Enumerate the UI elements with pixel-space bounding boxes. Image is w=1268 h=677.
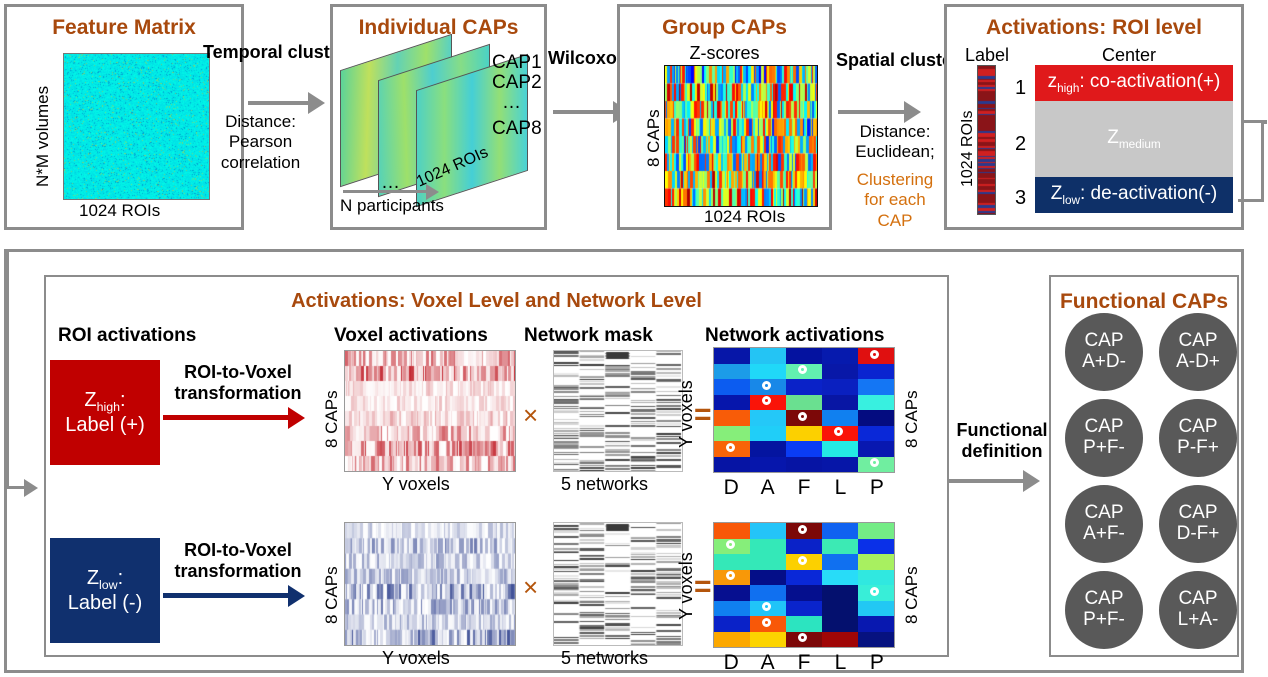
functional-caps-list: CAPA+D-CAPA-D+CAPP+F-CAPP-F+CAPA+F-CAPD-…: [1049, 313, 1239, 653]
arrow-line-wilcoxon: [553, 110, 615, 114]
network-cell: [786, 348, 822, 364]
network-column-label: A: [749, 651, 785, 675]
network-cell: [858, 364, 894, 380]
network-cell: [714, 410, 750, 426]
network-cell: [714, 379, 750, 395]
text-line: for each: [836, 190, 954, 210]
z-label: zhigh: co-activation(+): [1048, 71, 1221, 95]
functional-cap-circle[interactable]: CAPA+F-: [1065, 485, 1143, 563]
zlow-label-box: Zlow:Label (-): [50, 538, 160, 643]
network-cell: [750, 395, 786, 411]
network-activations-positive-grid: [713, 347, 895, 473]
network-cell: [858, 539, 894, 555]
cap-line-1: CAP: [1084, 331, 1123, 352]
network-cell: [822, 616, 858, 632]
roi-label-colorbar: [977, 65, 996, 215]
roi-center-row-medium: Zmedium: [1035, 101, 1233, 177]
network-cell: [750, 457, 786, 473]
network-cell: [750, 554, 786, 570]
network-mask-negative-xlabel: 5 networks: [561, 648, 648, 669]
z-label: Zhigh:: [84, 389, 125, 414]
text-line: ROI-to-Voxel: [163, 540, 313, 561]
network-cell: [858, 616, 894, 632]
network-cell: [786, 554, 822, 570]
network-cell: [750, 410, 786, 426]
cap-line-2: P+F-: [1083, 610, 1125, 631]
functional-cap-circle[interactable]: CAPA+D-: [1065, 313, 1143, 391]
arrow-line-spatial: [838, 110, 906, 114]
network-cell: [750, 616, 786, 632]
feature-matrix-heatmap: [63, 53, 210, 200]
network-cell: [822, 426, 858, 442]
voxel-positive-ylabel: 8 CAPs: [322, 390, 342, 448]
roi-center-row-low: Zlow: de-activation(-): [1035, 177, 1233, 213]
network-positive-ylabel: 8 CAPs: [902, 390, 922, 448]
voxel-activations-negative-heatmap: [344, 522, 516, 646]
z-label: Zlow:: [87, 567, 123, 592]
feature-matrix-ylabel: N*M volumes: [33, 86, 53, 187]
panel-title-voxel-network: Activations: Voxel Level and Network Lev…: [46, 290, 947, 313]
cap-line-1: CAP: [1178, 331, 1217, 352]
group-caps-ylabel: 8 CAPs: [644, 109, 664, 167]
feature-matrix-xlabel: 1024 ROIs: [79, 201, 160, 221]
text-line: Clustering: [836, 170, 954, 190]
flow-connector-left-arrowhead: [24, 479, 38, 497]
network-cell: [714, 426, 750, 442]
cap-label-ellipsis: …: [502, 92, 521, 114]
network-cell: [822, 348, 858, 364]
arrow-line-participants: [343, 190, 428, 193]
activation-marker: [798, 412, 807, 421]
activation-marker: [762, 381, 771, 390]
network-cell: [714, 364, 750, 380]
network-cell: [786, 426, 822, 442]
equals-symbol-negative: =: [694, 570, 712, 604]
roi-center-header: Center: [1102, 45, 1156, 66]
network-cell: [822, 554, 858, 570]
network-cell: [858, 441, 894, 457]
network-cell: [822, 379, 858, 395]
functional-definition-label: Functionaldefinition: [948, 420, 1056, 461]
network-mask-canvas: [554, 523, 682, 645]
activation-marker: [726, 443, 735, 452]
network-cell: [750, 426, 786, 442]
network-cell: [714, 601, 750, 617]
cap-label-2: CAP2: [492, 72, 542, 94]
cap-label-8: CAP8: [492, 118, 542, 140]
network-cell: [858, 632, 894, 648]
cap-line-2: P+F-: [1083, 438, 1125, 459]
roi-to-voxel-label-negative: ROI-to-Voxeltransformation: [163, 540, 313, 581]
network-cell: [714, 585, 750, 601]
network-cell: [786, 379, 822, 395]
arrow-sublabel-spatial-black: Distance:Euclidean;: [836, 122, 954, 163]
arrow-sublabel-spatial-orange: Clusteringfor eachCAP: [836, 170, 954, 231]
network-negative-column-labels: DAFLP: [713, 651, 895, 675]
network-cell: [714, 441, 750, 457]
text-line: Functional: [948, 420, 1056, 441]
text-line: definition: [948, 441, 1056, 462]
network-cell: [822, 364, 858, 380]
voxel-positive-xlabel: Y voxels: [382, 474, 450, 495]
voxel-activations-canvas: [345, 351, 515, 471]
z-sublabel: Label (-): [68, 592, 142, 615]
network-cell: [750, 601, 786, 617]
activation-marker: [870, 350, 879, 359]
network-cell: [714, 395, 750, 411]
cap-line-1: CAP: [1178, 417, 1217, 438]
panel-activations-roi-level: Activations: ROI level Label Center 1024…: [944, 4, 1244, 230]
flow-connector-vertical-right: [1261, 120, 1264, 202]
network-cell: [714, 523, 750, 539]
network-cell: [786, 616, 822, 632]
z-label: Zlow: de-activation(-): [1051, 183, 1218, 207]
panel-title-individual-caps: Individual CAPs: [333, 16, 544, 40]
network-cell: [858, 348, 894, 364]
network-mask-canvas: [554, 351, 682, 471]
activation-marker: [762, 602, 771, 611]
network-cell: [822, 570, 858, 586]
text-line: Pearson: [203, 132, 318, 152]
text-line: Distance:: [836, 122, 954, 142]
network-cell: [786, 523, 822, 539]
group-caps-subtitle: Z-scores: [620, 43, 829, 64]
arrow-head-roi-to-voxel-positive: [288, 407, 305, 429]
functional-cap-circle[interactable]: CAPP-F+: [1159, 399, 1237, 477]
text-line: transformation: [163, 561, 313, 582]
network-cell: [822, 441, 858, 457]
network-cell: [750, 539, 786, 555]
network-column-label: L: [822, 651, 858, 675]
network-cell: [858, 426, 894, 442]
activation-marker: [798, 525, 807, 534]
network-cell: [786, 570, 822, 586]
header-voxel-activations: Voxel activations: [334, 325, 488, 347]
network-cell: [750, 570, 786, 586]
individual-caps-xlabel: N participants: [340, 196, 444, 216]
functional-cap-circle[interactable]: CAPA-D+: [1159, 313, 1237, 391]
network-cell: [858, 379, 894, 395]
arrow-line-roi-to-voxel-positive: [163, 415, 291, 420]
network-positive-column-labels: DAFLP: [713, 476, 895, 500]
network-cell: [714, 539, 750, 555]
network-cell: [750, 585, 786, 601]
network-cell: [858, 410, 894, 426]
arrow-label-temporal-clustering: Temporal clustering: [203, 42, 318, 63]
cap-label-1: CAP1: [492, 52, 542, 74]
text-line: Euclidean;: [836, 142, 954, 162]
network-cell: [750, 348, 786, 364]
activation-marker: [762, 396, 771, 405]
z-sublabel: Label (+): [65, 414, 145, 437]
network-cell: [858, 395, 894, 411]
network-column-label: P: [859, 476, 895, 500]
cap-line-1: CAP: [1178, 503, 1217, 524]
network-cell: [786, 410, 822, 426]
roi-row-index-3: 3: [1015, 187, 1026, 210]
arrow-line-temporal: [248, 101, 310, 105]
arrow-line-functional-definition: [948, 479, 1026, 483]
network-cell: [750, 441, 786, 457]
network-column-label: F: [786, 651, 822, 675]
network-cell: [858, 570, 894, 586]
activation-marker: [726, 571, 735, 580]
network-cell: [786, 601, 822, 617]
network-cell: [714, 348, 750, 364]
network-cell: [786, 441, 822, 457]
network-cell: [750, 364, 786, 380]
network-cell: [714, 554, 750, 570]
activation-marker: [798, 633, 807, 642]
network-column-label: P: [859, 651, 895, 675]
arrow-head-functional-definition: [1023, 470, 1040, 492]
network-cell: [858, 457, 894, 473]
cap-line-2: A-D+: [1176, 352, 1220, 373]
panel-title-functional-caps: Functional CAPs: [1051, 290, 1237, 314]
voxel-negative-ylabel: 8 CAPs: [322, 566, 342, 624]
zhigh-label-box: Zhigh:Label (+): [50, 360, 160, 465]
network-cell: [786, 585, 822, 601]
activation-marker: [870, 458, 879, 467]
panel-group-caps: Group CAPs Z-scores 8 CAPs 1024 ROIs: [617, 4, 832, 230]
header-network-mask: Network mask: [524, 325, 653, 347]
network-cell: [822, 585, 858, 601]
network-cell: [714, 632, 750, 648]
activation-marker: [798, 365, 807, 374]
functional-cap-circle[interactable]: CAPL+A-: [1159, 571, 1237, 649]
cap-line-1: CAP: [1084, 503, 1123, 524]
network-mask-positive-xlabel: 5 networks: [561, 474, 648, 495]
network-cell: [714, 570, 750, 586]
network-mask-negative: [553, 522, 683, 646]
cap-line-1: CAP: [1084, 417, 1123, 438]
roi-axis-label: 1024 ROIs: [959, 111, 977, 187]
text-line: transformation: [163, 383, 313, 404]
network-cell: [822, 410, 858, 426]
cap-line-2: P-F+: [1177, 438, 1219, 459]
panel-title-feature-matrix: Feature Matrix: [7, 16, 241, 40]
text-line: CAP: [836, 211, 954, 231]
activation-marker: [834, 427, 843, 436]
text-line: correlation: [203, 153, 318, 173]
activation-marker: [726, 540, 735, 549]
arrow-line-roi-to-voxel-negative: [163, 593, 291, 598]
network-cell: [822, 523, 858, 539]
network-cell: [858, 523, 894, 539]
network-cell: [786, 539, 822, 555]
functional-cap-circle[interactable]: CAPP+F-: [1065, 571, 1143, 649]
network-cell: [822, 457, 858, 473]
roi-to-voxel-label-positive: ROI-to-Voxeltransformation: [163, 362, 313, 403]
network-column-label: D: [713, 476, 749, 500]
network-cell: [750, 379, 786, 395]
panel-title-activations-roi: Activations: ROI level: [947, 16, 1241, 40]
panel-title-group-caps: Group CAPs: [620, 16, 829, 40]
network-cell: [750, 632, 786, 648]
network-cell: [786, 395, 822, 411]
roi-row-index-2: 2: [1015, 133, 1026, 156]
network-column-label: L: [822, 476, 858, 500]
feature-matrix-canvas: [64, 54, 209, 199]
network-cell: [822, 601, 858, 617]
roi-row-index-1: 1: [1015, 77, 1026, 100]
header-network-activations: Network activations: [705, 325, 885, 347]
network-cell: [786, 364, 822, 380]
functional-cap-circle[interactable]: CAPP+F-: [1065, 399, 1143, 477]
activation-marker: [798, 556, 807, 565]
network-cell: [858, 554, 894, 570]
arrow-head-roi-to-voxel-negative: [288, 585, 305, 607]
activation-marker: [870, 587, 879, 596]
functional-cap-circle[interactable]: CAPD-F+: [1159, 485, 1237, 563]
network-cell: [786, 632, 822, 648]
network-cell: [786, 457, 822, 473]
arrow-head-temporal: [308, 92, 325, 114]
multiply-symbol-negative: ×: [523, 572, 538, 603]
flow-connector-horizontal-bottom: [1238, 199, 1264, 202]
header-roi-activations: ROI activations: [58, 325, 196, 347]
group-caps-xlabel: 1024 ROIs: [704, 207, 785, 227]
activation-marker: [762, 618, 771, 627]
cap-line-1: CAP: [1084, 589, 1123, 610]
multiply-symbol-positive: ×: [523, 400, 538, 431]
cap-line-2: A+D-: [1082, 352, 1126, 373]
network-cell: [714, 616, 750, 632]
network-cell: [822, 539, 858, 555]
network-cell: [714, 457, 750, 473]
cap-line-2: D-F+: [1177, 524, 1220, 545]
arrow-head-spatial: [904, 101, 921, 123]
network-mask-positive: [553, 350, 683, 472]
network-column-label: F: [786, 476, 822, 500]
network-column-label: D: [713, 651, 749, 675]
voxel-negative-xlabel: Y voxels: [382, 648, 450, 669]
roi-label-header: Label: [965, 45, 1009, 66]
group-caps-canvas: [665, 66, 817, 206]
cap-line-2: L+A-: [1178, 610, 1219, 631]
voxel-activations-positive-heatmap: [344, 350, 516, 472]
cap-line-1: CAP: [1178, 589, 1217, 610]
z-label: Zmedium: [1107, 127, 1160, 151]
network-cell: [822, 395, 858, 411]
text-line: Distance:: [203, 112, 318, 132]
voxel-activations-canvas: [345, 523, 515, 645]
flow-connector-left-horizontal: [6, 486, 26, 489]
roi-center-row-high: zhigh: co-activation(+): [1035, 65, 1233, 101]
group-caps-heatmap: [664, 65, 818, 207]
roi-colorbar-canvas: [978, 66, 995, 214]
arrow-label-spatial-clustering: Spatial clustering: [836, 50, 954, 71]
network-cell: [750, 523, 786, 539]
flow-connector-left-vertical: [6, 252, 9, 489]
equals-symbol-positive: =: [694, 398, 712, 432]
network-cell: [822, 632, 858, 648]
cap-line-2: A+F-: [1083, 524, 1125, 545]
text-line: ROI-to-Voxel: [163, 362, 313, 383]
network-activations-negative-grid: [713, 522, 895, 648]
network-column-label: A: [749, 476, 785, 500]
network-negative-ylabel: 8 CAPs: [902, 566, 922, 624]
arrow-sublabel-temporal: Distance:Pearsoncorrelation: [203, 112, 318, 173]
network-cell: [858, 601, 894, 617]
network-cell: [858, 585, 894, 601]
